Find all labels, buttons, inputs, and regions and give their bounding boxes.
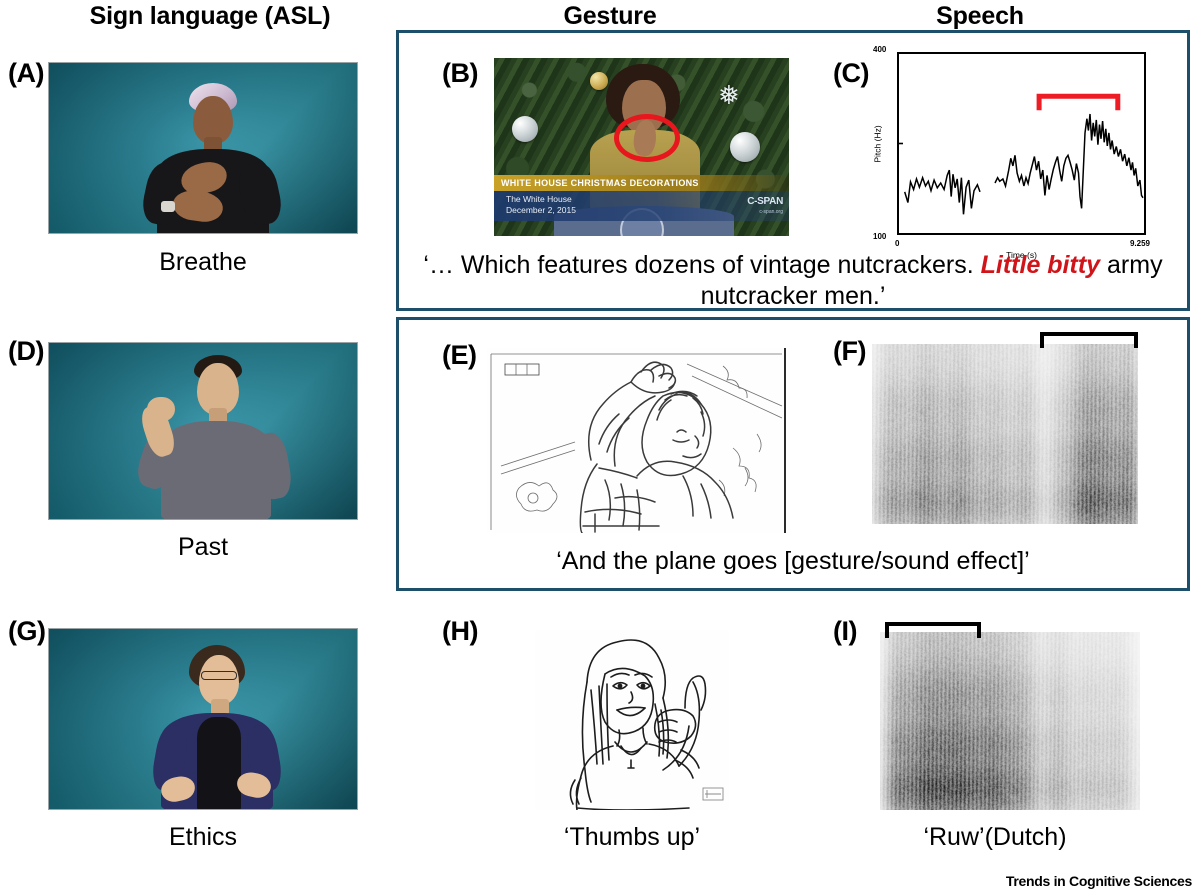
asl-photo-breathe xyxy=(48,62,358,234)
panel-caption-i: ‘Ruw’(Dutch) xyxy=(830,822,1160,853)
figure-head-g xyxy=(199,655,239,705)
cspan-logo-url: c-span.org xyxy=(747,207,783,217)
cspan-logo: C-SPAN c-span.org xyxy=(747,197,783,217)
spectrogram-panel-f xyxy=(872,344,1138,524)
ornament-icon xyxy=(512,116,538,142)
panel-caption-d: Past xyxy=(48,532,358,563)
x-axis-tick-max: 9.259 xyxy=(1130,239,1150,248)
transcript-text-highlight: Little bitty xyxy=(981,251,1100,279)
ornament-icon xyxy=(730,132,760,162)
x-axis-tick-min: 0 xyxy=(895,239,899,248)
line-drawing-svg-e xyxy=(487,348,786,533)
ornament-icon xyxy=(590,72,608,90)
y-axis-tick-max: 400 xyxy=(873,45,886,54)
broadcast-banner-title: WHITE HOUSE CHRISTMAS DECORATIONS xyxy=(494,175,789,191)
video-still-gesture: ❅ ❆ WHITE HOUSE CHRISTMAS DECORATIONS Th… xyxy=(494,58,789,236)
line-drawing-thumbs-up xyxy=(535,630,729,810)
y-axis-tick-min: 100 xyxy=(873,232,886,241)
panel-letter-d: (D) xyxy=(8,336,44,367)
row-2-transcript-caption: ‘And the plane goes [gesture/sound effec… xyxy=(404,546,1182,577)
panel-letter-i: (I) xyxy=(833,616,857,647)
pitch-contour-plot xyxy=(897,52,1146,235)
line-drawing-gesture-plane xyxy=(487,348,786,533)
broadcast-banner-subtitle: The White House December 2, 2015 xyxy=(494,191,789,221)
panel-caption-h: ‘Thumbs up’ xyxy=(440,822,824,853)
panel-letter-e: (E) xyxy=(442,340,477,371)
panel-caption-a: Breathe xyxy=(48,247,358,278)
journal-credit: Trends in Cognitive Sciences xyxy=(1006,873,1192,889)
panel-letter-f: (F) xyxy=(833,336,866,367)
panel-caption-g: Ethics xyxy=(48,822,358,853)
panel-letter-h: (H) xyxy=(442,616,478,647)
spectrogram-canvas-i xyxy=(880,632,1140,810)
cspan-logo-text: C-SPAN xyxy=(747,196,783,207)
pitch-track-chart: 400 100 0 9.259 Pitch (Hz) Time (s) xyxy=(897,52,1146,235)
asl-photo-past xyxy=(48,342,358,520)
panel-letter-c: (C) xyxy=(833,58,869,89)
red-highlight-ellipse xyxy=(614,114,680,162)
asl-photo-ethics xyxy=(48,628,358,810)
spectrogram-bracket-i xyxy=(885,622,981,638)
spectrogram-panel-i xyxy=(880,632,1140,810)
spectrogram-bracket-f xyxy=(1040,332,1138,348)
figure-wristwatch-a xyxy=(161,201,175,212)
panel-letter-a: (A) xyxy=(8,58,44,89)
snowflake-icon: ❅ xyxy=(718,82,740,108)
line-drawing-svg-h xyxy=(535,630,729,810)
row-1-transcript-caption: ‘… Which features dozens of vintage nutc… xyxy=(404,250,1182,311)
column-header-gesture: Gesture xyxy=(490,2,730,31)
column-header-speech: Speech xyxy=(830,2,1130,31)
figure-hand-d xyxy=(147,397,175,421)
panel-letter-b: (B) xyxy=(442,58,478,89)
spectrogram-canvas-f xyxy=(872,344,1138,524)
column-header-sign-language: Sign language (ASL) xyxy=(40,2,380,31)
figure-top-g xyxy=(197,717,241,810)
panel-letter-g: (G) xyxy=(8,616,45,647)
y-axis-label: Pitch (Hz) xyxy=(873,125,883,162)
figure-torso-d xyxy=(161,421,271,520)
figure-glasses-g xyxy=(201,671,237,680)
transcript-text-pre: ‘… Which features dozens of vintage nutc… xyxy=(423,251,980,279)
